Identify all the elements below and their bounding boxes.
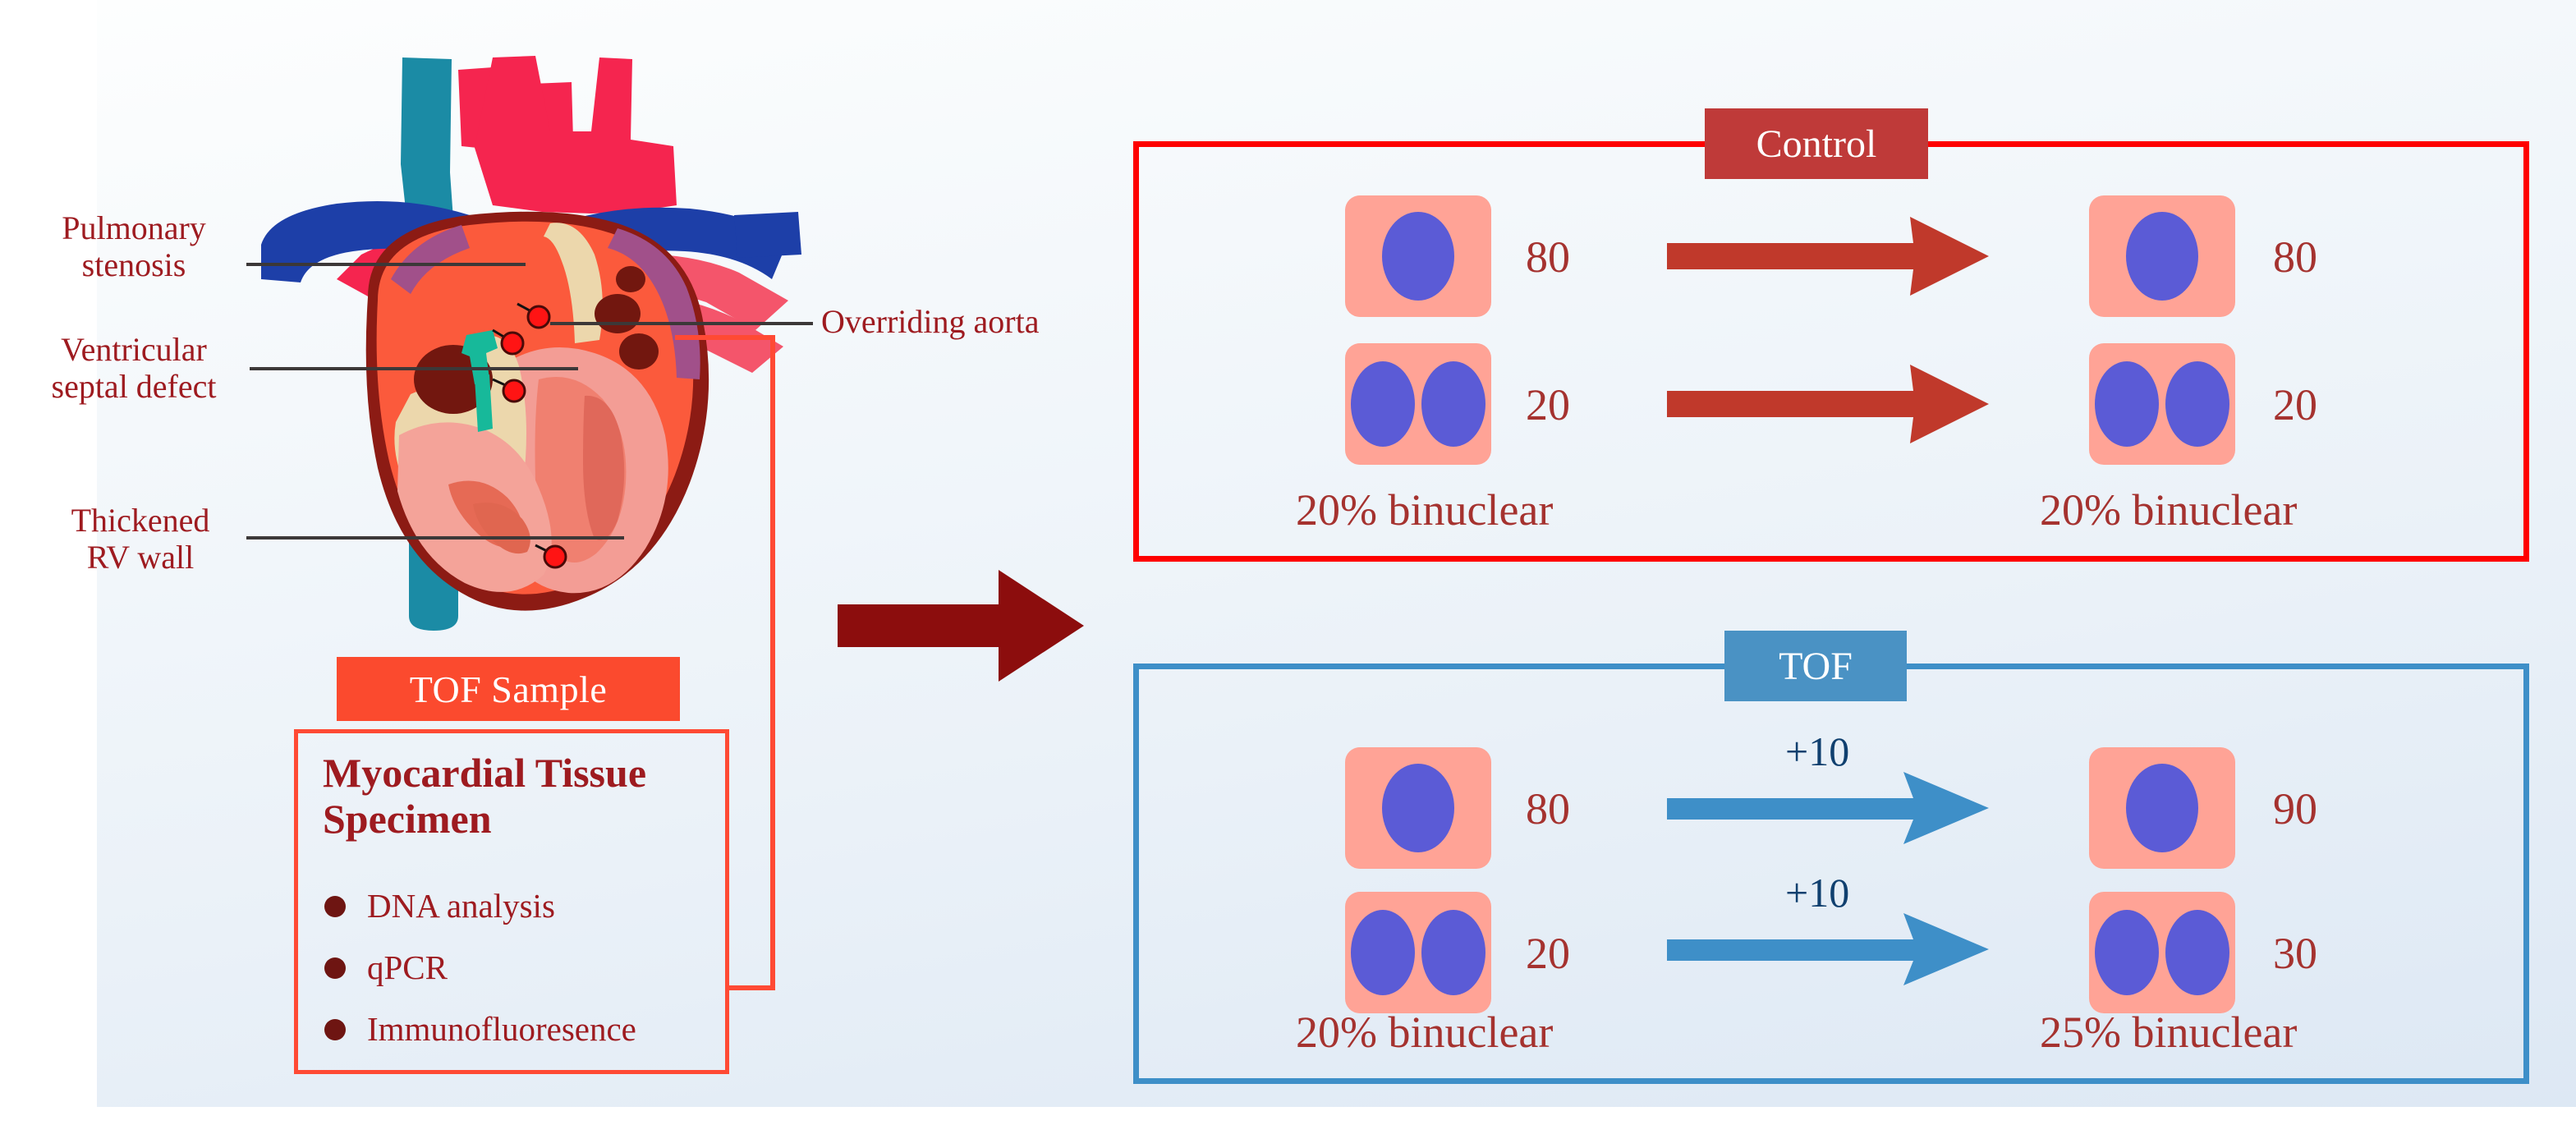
assay-label: DNA analysis [367,889,555,923]
delta-label: +10 [1785,872,1849,913]
leader-line-thickened-rv-wall [246,536,624,540]
summary-before: 20% binuclear [1296,1010,1553,1054]
nucleus-icon [2165,910,2229,995]
tof-sample-header: TOF Sample [337,657,680,721]
nucleus-icon [1351,361,1415,447]
tof-sample-label: TOF Sample [410,668,608,711]
control-arrow-binuclear [1667,363,1992,445]
leader-line-pulmonary-stenosis [246,263,526,266]
assay-label: Immunofluoresence [367,1013,636,1046]
count-after: 80 [2273,235,2317,279]
count-after: 20 [2273,383,2317,427]
summary-before: 20% binuclear [1296,488,1553,532]
figure-canvas: Pulmonary stenosis Ventricular septal de… [0,0,2576,1125]
bullet-dot-icon [324,896,346,917]
tof-panel-badge: TOF [1724,631,1907,701]
nucleus-icon [2095,910,2159,995]
cell-mononuclear-before [1345,195,1491,317]
control-arrow-mononuclear [1667,215,1992,297]
assay-label: qPCR [367,951,448,985]
control-badge-label: Control [1756,122,1877,167]
list-item: Immunofluoresence [324,1013,636,1046]
count-before: 80 [1526,235,1570,279]
cell-binuclear-before [1345,892,1491,1013]
specimen-connector-vertical [770,335,775,990]
cell-binuclear-after [2089,343,2235,465]
tof-badge-label: TOF [1779,644,1853,689]
label-ventricular-septal-defect: Ventricular septal defect [15,332,253,406]
tof-arrow-binuclear [1667,913,1992,987]
leader-line-overriding-aorta [550,322,813,325]
nucleus-icon [1421,361,1485,447]
count-before: 20 [1526,931,1570,976]
main-process-arrow [838,567,1100,690]
tof-arrow-mononuclear [1667,772,1992,846]
bullet-dot-icon [324,957,346,979]
count-before: 80 [1526,787,1570,831]
specimen-connector-top [675,335,775,340]
control-panel-badge: Control [1705,108,1928,179]
list-item: DNA analysis [324,889,555,923]
bullet-dot-icon [324,1019,346,1040]
label-thickened-rv-wall: Thickened RV wall [38,503,243,576]
label-overriding-aorta: Overriding aorta [821,304,1150,341]
specimen-title: Myocardial Tissue Specimen [323,750,709,842]
nucleus-icon [2126,764,2198,852]
nucleus-icon [2165,361,2229,447]
nucleus-icon [2095,361,2159,447]
delta-label: +10 [1785,731,1849,772]
cell-mononuclear-before [1345,747,1491,869]
nucleus-icon [1351,910,1415,995]
count-before: 20 [1526,383,1570,427]
nucleus-icon [1382,764,1454,852]
leader-line-ventricular-septal-defect [250,367,578,370]
myocardial-tissue-specimen-box: Myocardial Tissue Specimen DNA analysis … [294,729,729,1074]
cell-mononuclear-after [2089,195,2235,317]
nucleus-icon [1382,212,1454,301]
summary-after: 25% binuclear [2040,1010,2297,1054]
count-after: 30 [2273,931,2317,976]
nucleus-icon [2126,212,2198,301]
cell-mononuclear-after [2089,747,2235,869]
summary-after: 20% binuclear [2040,488,2297,532]
label-pulmonary-stenosis: Pulmonary stenosis [31,210,236,284]
cell-binuclear-before [1345,343,1491,465]
specimen-connector-bottom [726,985,775,990]
cell-binuclear-after [2089,892,2235,1013]
list-item: qPCR [324,951,448,985]
nucleus-icon [1421,910,1485,995]
count-after: 90 [2273,787,2317,831]
